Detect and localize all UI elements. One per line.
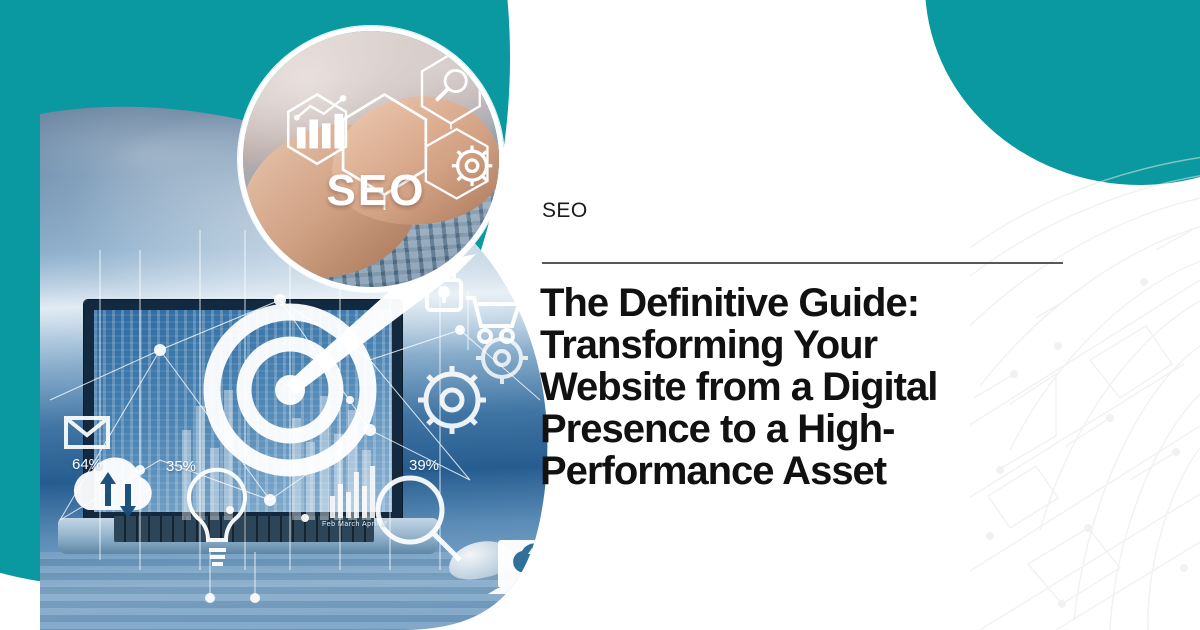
category-eyebrow: SEO xyxy=(542,199,588,223)
stat-label-39: 39% xyxy=(409,457,439,474)
header-divider xyxy=(542,262,1063,264)
headline-line-2: Transforming Your xyxy=(540,324,1080,366)
headline-line-4: Presence to a High- xyxy=(540,408,1080,450)
seo-circle-inset: SEO xyxy=(238,26,504,292)
magnifier-icon xyxy=(422,54,480,123)
bar-chart-trend-icon xyxy=(288,95,346,164)
headline-line-3: Website from a Digital xyxy=(540,366,1080,408)
page-title: The Definitive Guide: Transforming Your … xyxy=(540,282,1080,492)
chart-month-axis-labels: Feb March April M xyxy=(322,521,387,528)
headline-line-1: The Definitive Guide: xyxy=(540,282,1080,324)
seo-badge-text: SEO xyxy=(243,169,504,213)
stat-label-35: 35% xyxy=(166,458,196,475)
headline-line-5: Performance Asset xyxy=(540,450,1080,492)
poster-canvas: 64% 35% 39% Feb March April M xyxy=(0,0,1200,630)
inset-hexagon-icons xyxy=(243,31,499,287)
stat-label-64: 64% xyxy=(72,456,102,473)
